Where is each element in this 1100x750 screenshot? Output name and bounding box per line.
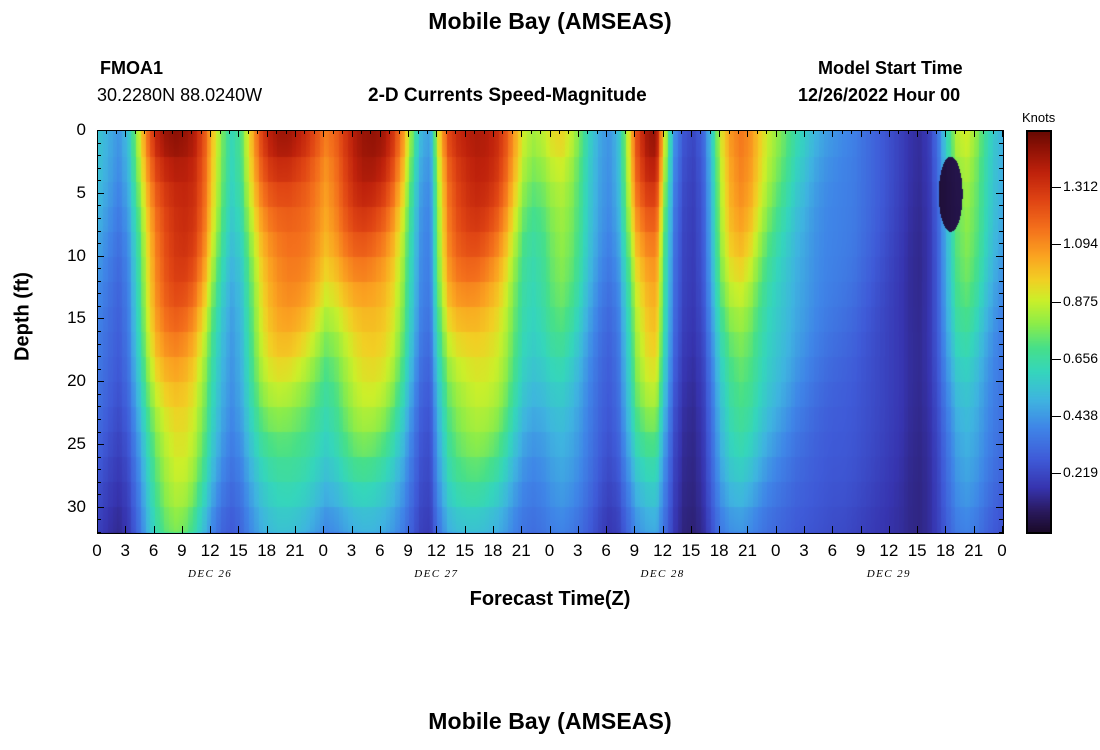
y-minor-tick-left (97, 218, 101, 219)
y-minor-tick-left (97, 331, 101, 332)
x-tick-bottom (267, 526, 268, 533)
x-tick-bottom (634, 526, 635, 533)
y-minor-tick-left (97, 519, 101, 520)
model-start-time-value: 12/26/2022 Hour 00 (798, 85, 960, 106)
x-tick-top (945, 130, 946, 137)
x-minor-tick (304, 130, 305, 134)
x-axis-date-label: DEC 29 (844, 568, 934, 580)
x-minor-tick (710, 130, 711, 134)
x-tick-bottom (295, 526, 296, 533)
y-minor-tick-left (97, 344, 101, 345)
y-minor-tick-left (97, 306, 101, 307)
x-minor-tick (446, 130, 447, 134)
y-minor-tick-right (999, 457, 1003, 458)
x-minor-tick (964, 130, 965, 134)
y-minor-tick-left (97, 419, 101, 420)
x-tick-bottom (691, 526, 692, 533)
x-tick-bottom (154, 526, 155, 533)
y-tick-right (996, 256, 1003, 257)
y-minor-tick-left (97, 482, 101, 483)
colorbar-tick (1052, 416, 1061, 417)
x-axis-date-label: DEC 26 (165, 568, 255, 580)
x-tick-top (747, 130, 748, 137)
x-minor-tick (851, 130, 852, 134)
x-minor-tick (795, 130, 796, 134)
x-tick-bottom (804, 526, 805, 533)
x-tick-top (154, 130, 155, 137)
x-minor-tick (286, 130, 287, 134)
x-minor-tick (276, 130, 277, 134)
page-title-bottom: Mobile Bay (AMSEAS) (0, 708, 1100, 735)
x-minor-tick (729, 130, 730, 134)
x-tick-bottom (578, 526, 579, 533)
x-tick-top (465, 130, 466, 137)
y-minor-tick-left (97, 143, 101, 144)
x-axis-date-label: DEC 27 (391, 568, 481, 580)
colorbar (1026, 130, 1052, 534)
x-minor-tick (955, 130, 956, 134)
y-minor-tick-right (999, 432, 1003, 433)
colorbar-tick-label: 1.094 (1063, 235, 1098, 251)
y-minor-tick-right (999, 406, 1003, 407)
y-minor-tick-left (97, 243, 101, 244)
x-tick-top (323, 130, 324, 137)
x-minor-tick (879, 130, 880, 134)
y-minor-tick-left (97, 168, 101, 169)
y-minor-tick-left (97, 394, 101, 395)
y-tick-label: 20 (46, 371, 86, 391)
x-minor-tick (106, 130, 107, 134)
x-tick-label: 0 (982, 541, 1022, 561)
y-minor-tick-left (97, 281, 101, 282)
y-tick-left (97, 507, 104, 508)
x-tick-top (550, 130, 551, 137)
x-tick-top (210, 130, 211, 137)
station-coordinates-label: 30.2280N 88.0240W (97, 85, 262, 106)
x-minor-tick (512, 130, 513, 134)
x-tick-bottom (408, 526, 409, 533)
y-minor-tick-right (999, 419, 1003, 420)
x-minor-tick (201, 130, 202, 134)
x-minor-tick (681, 130, 682, 134)
y-tick-label: 0 (46, 120, 86, 140)
y-tick-label: 30 (46, 497, 86, 517)
x-tick-bottom (889, 526, 890, 533)
colorbar-tick (1052, 302, 1061, 303)
colorbar-tick (1052, 187, 1061, 188)
x-tick-top (832, 130, 833, 137)
x-minor-tick (993, 130, 994, 134)
y-minor-tick-right (999, 482, 1003, 483)
y-minor-tick-right (999, 218, 1003, 219)
x-minor-tick (172, 130, 173, 134)
y-tick-left (97, 381, 104, 382)
x-tick-top (776, 130, 777, 137)
y-minor-tick-right (999, 394, 1003, 395)
y-minor-tick-left (97, 469, 101, 470)
x-minor-tick (785, 130, 786, 134)
x-tick-bottom (606, 526, 607, 533)
x-minor-tick (625, 130, 626, 134)
y-minor-tick-right (999, 268, 1003, 269)
x-minor-tick (738, 130, 739, 134)
x-minor-tick (531, 130, 532, 134)
x-minor-tick (370, 130, 371, 134)
y-minor-tick-right (999, 143, 1003, 144)
x-minor-tick (144, 130, 145, 134)
x-tick-bottom (125, 526, 126, 533)
y-minor-tick-left (97, 293, 101, 294)
x-tick-top (238, 130, 239, 137)
x-minor-tick (559, 130, 560, 134)
colorbar-tick-label: 0.438 (1063, 407, 1098, 423)
x-minor-tick (813, 130, 814, 134)
x-minor-tick (823, 130, 824, 134)
y-minor-tick-left (97, 180, 101, 181)
y-minor-tick-right (999, 369, 1003, 370)
y-minor-tick-right (999, 532, 1003, 533)
y-tick-label: 10 (46, 246, 86, 266)
x-minor-tick (314, 130, 315, 134)
x-minor-tick (484, 130, 485, 134)
y-tick-right (996, 318, 1003, 319)
x-minor-tick (229, 130, 230, 134)
y-tick-left (97, 130, 104, 131)
x-minor-tick (116, 130, 117, 134)
colorbar-tick (1052, 359, 1061, 360)
y-minor-tick-right (999, 281, 1003, 282)
x-tick-bottom (747, 526, 748, 533)
colorbar-tick-label: 0.219 (1063, 464, 1098, 480)
x-tick-top (634, 130, 635, 137)
y-minor-tick-left (97, 494, 101, 495)
x-tick-top (493, 130, 494, 137)
x-axis-date-label: DEC 28 (618, 568, 708, 580)
y-minor-tick-right (999, 231, 1003, 232)
y-minor-tick-right (999, 155, 1003, 156)
x-minor-tick (399, 130, 400, 134)
colorbar-tick-label: 0.656 (1063, 350, 1098, 366)
x-minor-tick (342, 130, 343, 134)
x-tick-top (352, 130, 353, 137)
y-tick-label: 25 (46, 434, 86, 454)
x-minor-tick (361, 130, 362, 134)
x-minor-tick (615, 130, 616, 134)
y-minor-tick-left (97, 268, 101, 269)
x-tick-bottom (436, 526, 437, 533)
x-minor-tick (191, 130, 192, 134)
x-minor-tick (220, 130, 221, 134)
x-tick-top (408, 130, 409, 137)
y-minor-tick-left (97, 231, 101, 232)
y-minor-tick-right (999, 180, 1003, 181)
x-minor-tick (502, 130, 503, 134)
x-tick-top (974, 130, 975, 137)
y-minor-tick-left (97, 369, 101, 370)
y-minor-tick-right (999, 519, 1003, 520)
y-minor-tick-right (999, 243, 1003, 244)
x-tick-bottom (917, 526, 918, 533)
x-tick-bottom (210, 526, 211, 533)
x-minor-tick (418, 130, 419, 134)
x-tick-bottom (352, 526, 353, 533)
x-tick-top (719, 130, 720, 137)
x-tick-top (578, 130, 579, 137)
x-minor-tick (983, 130, 984, 134)
y-minor-tick-right (999, 356, 1003, 357)
x-tick-top (267, 130, 268, 137)
y-minor-tick-left (97, 406, 101, 407)
y-tick-label: 15 (46, 308, 86, 328)
y-minor-tick-left (97, 205, 101, 206)
x-tick-top (295, 130, 296, 137)
y-tick-left (97, 318, 104, 319)
x-axis-title: Forecast Time(Z) (0, 588, 1100, 611)
x-tick-bottom (323, 526, 324, 533)
y-tick-left (97, 193, 104, 194)
y-tick-right (996, 193, 1003, 194)
x-minor-tick (766, 130, 767, 134)
colorbar-tick (1052, 244, 1061, 245)
heatmap-canvas (98, 131, 1003, 533)
x-tick-bottom (945, 526, 946, 533)
x-tick-top (97, 130, 98, 137)
x-minor-tick (248, 130, 249, 134)
model-start-time-label: Model Start Time (818, 58, 963, 79)
y-minor-tick-right (999, 331, 1003, 332)
x-minor-tick (936, 130, 937, 134)
x-minor-tick (474, 130, 475, 134)
x-tick-top (380, 130, 381, 137)
x-tick-bottom (238, 526, 239, 533)
colorbar-tick (1052, 473, 1061, 474)
x-minor-tick (672, 130, 673, 134)
station-id-label: FMOA1 (100, 58, 163, 79)
x-tick-bottom (182, 526, 183, 533)
y-tick-left (97, 256, 104, 257)
x-minor-tick (455, 130, 456, 134)
x-tick-top (1002, 130, 1003, 137)
y-minor-tick-left (97, 532, 101, 533)
y-axis-title: Depth (ft) (12, 257, 35, 377)
x-tick-bottom (663, 526, 664, 533)
x-tick-top (691, 130, 692, 137)
y-minor-tick-right (999, 205, 1003, 206)
y-minor-tick-right (999, 306, 1003, 307)
x-tick-bottom (465, 526, 466, 533)
x-minor-tick (700, 130, 701, 134)
y-tick-label: 5 (46, 183, 86, 203)
chart-subtitle: 2-D Currents Speed-Magnitude (368, 85, 647, 107)
x-tick-bottom (550, 526, 551, 533)
y-tick-right (996, 130, 1003, 131)
y-minor-tick-left (97, 457, 101, 458)
y-minor-tick-left (97, 356, 101, 357)
x-minor-tick (389, 130, 390, 134)
x-tick-bottom (521, 526, 522, 533)
x-tick-top (804, 130, 805, 137)
y-minor-tick-right (999, 494, 1003, 495)
colorbar-tick-label: 1.312 (1063, 178, 1098, 194)
x-minor-tick (333, 130, 334, 134)
colorbar-tick-label: 0.875 (1063, 293, 1098, 309)
x-tick-top (606, 130, 607, 137)
x-tick-bottom (974, 526, 975, 533)
x-minor-tick (644, 130, 645, 134)
heatmap-plot-area (97, 130, 1004, 534)
x-tick-top (125, 130, 126, 137)
x-tick-bottom (493, 526, 494, 533)
x-tick-bottom (380, 526, 381, 533)
colorbar-canvas (1028, 132, 1050, 532)
x-tick-bottom (776, 526, 777, 533)
x-minor-tick (135, 130, 136, 134)
y-minor-tick-right (999, 344, 1003, 345)
y-tick-right (996, 444, 1003, 445)
x-tick-top (182, 130, 183, 137)
x-minor-tick (597, 130, 598, 134)
y-minor-tick-left (97, 432, 101, 433)
x-minor-tick (653, 130, 654, 134)
y-minor-tick-right (999, 293, 1003, 294)
y-minor-tick-right (999, 168, 1003, 169)
x-tick-top (663, 130, 664, 137)
x-minor-tick (870, 130, 871, 134)
page-title-top: Mobile Bay (AMSEAS) (0, 8, 1100, 35)
y-tick-right (996, 507, 1003, 508)
x-minor-tick (898, 130, 899, 134)
x-minor-tick (163, 130, 164, 134)
x-tick-top (889, 130, 890, 137)
x-tick-top (436, 130, 437, 137)
x-tick-bottom (861, 526, 862, 533)
x-tick-bottom (719, 526, 720, 533)
x-tick-bottom (832, 526, 833, 533)
x-minor-tick (587, 130, 588, 134)
x-minor-tick (908, 130, 909, 134)
x-minor-tick (927, 130, 928, 134)
x-tick-top (861, 130, 862, 137)
x-minor-tick (427, 130, 428, 134)
x-tick-top (917, 130, 918, 137)
y-minor-tick-right (999, 469, 1003, 470)
y-minor-tick-left (97, 155, 101, 156)
x-minor-tick (257, 130, 258, 134)
colorbar-title: Knots (1022, 110, 1055, 125)
x-minor-tick (540, 130, 541, 134)
x-minor-tick (842, 130, 843, 134)
x-minor-tick (568, 130, 569, 134)
y-tick-right (996, 381, 1003, 382)
x-minor-tick (757, 130, 758, 134)
x-tick-top (521, 130, 522, 137)
y-tick-left (97, 444, 104, 445)
